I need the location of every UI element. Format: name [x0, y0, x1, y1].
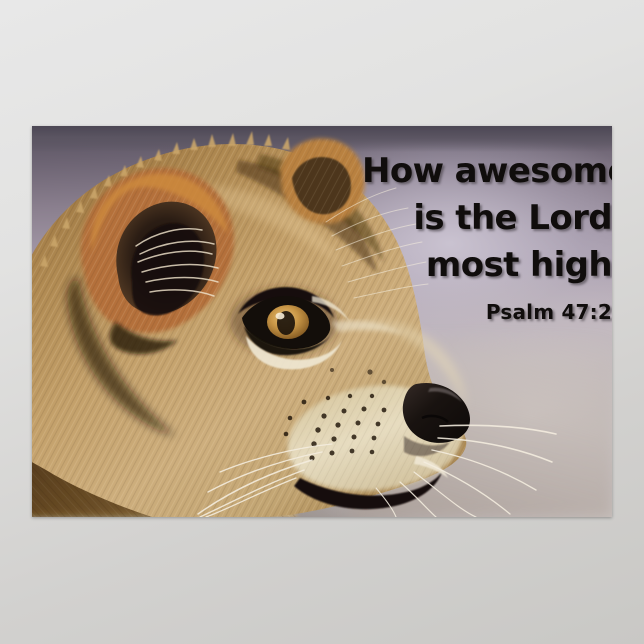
lion-portrait-image: [32, 126, 612, 517]
poster-image: How awesome is the Lord most high Psalm …: [32, 126, 612, 517]
